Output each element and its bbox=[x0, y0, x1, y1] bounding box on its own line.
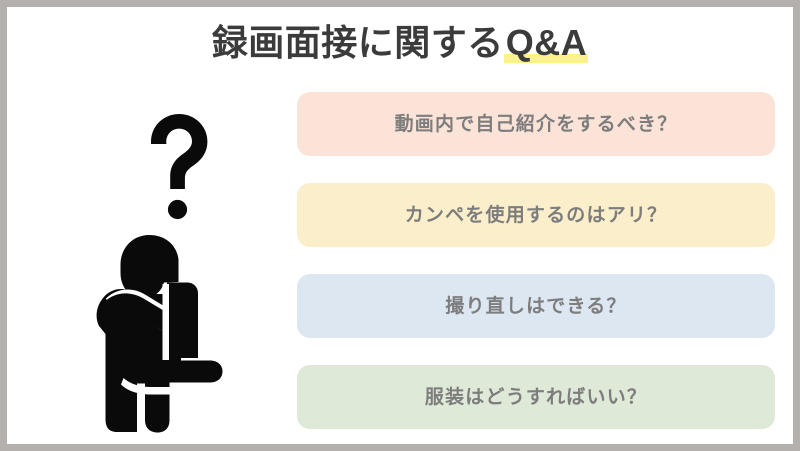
title-highlighted-segment: Q&A bbox=[504, 22, 589, 63]
question-card-4-label: 服装はどうすればいい？ bbox=[425, 388, 647, 407]
slide-frame: 録画面接に関するQ&A bbox=[0, 0, 800, 451]
slide-canvas: 録画面接に関するQ&A bbox=[7, 7, 793, 444]
question-mark-icon bbox=[151, 114, 207, 219]
question-card-2[interactable]: カンペを使用するのはアリ？ bbox=[297, 183, 775, 247]
title-text-wrapper: 録画面接に関するQ&A bbox=[212, 22, 589, 63]
question-card-3[interactable]: 撮り直しはできる？ bbox=[297, 274, 775, 338]
question-card-4[interactable]: 服装はどうすればいい？ bbox=[297, 365, 775, 429]
page-title: 録画面接に関するQ&A bbox=[7, 21, 793, 64]
person-silhouette bbox=[97, 235, 223, 433]
thinking-person-illustration bbox=[65, 102, 265, 437]
title-plain-segment: 録画面接に関する bbox=[212, 22, 504, 63]
question-card-3-label: 撮り直しはできる？ bbox=[445, 297, 626, 316]
question-card-1[interactable]: 動画内で自己紹介をするべき？ bbox=[297, 92, 775, 156]
question-card-1-label: 動画内で自己紹介をするべき？ bbox=[395, 115, 678, 134]
question-card-2-label: カンペを使用するのはアリ？ bbox=[405, 206, 668, 225]
